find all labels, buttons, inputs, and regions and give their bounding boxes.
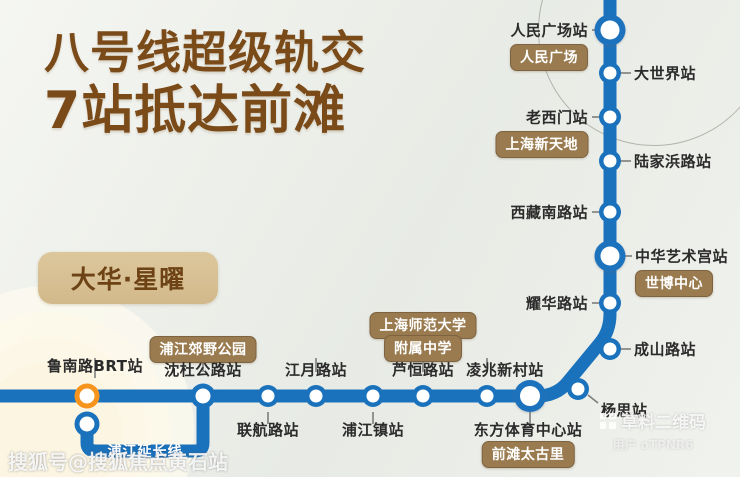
station-dot-laoximen-core bbox=[604, 111, 617, 124]
station-label-lujiabang-lu: 陆家浜路站 bbox=[634, 151, 712, 172]
station-label-dongfang-tiyu-zhongxin: 东方体育中心站 bbox=[474, 419, 583, 440]
station-dot-yangsi-core bbox=[572, 383, 585, 396]
station-dot-luheng-lu-core bbox=[417, 390, 430, 403]
watermark-user: 用户 oTPNR6 bbox=[600, 436, 706, 453]
station-dot-lunan-lu-brt-core bbox=[80, 389, 95, 404]
station-dot-pujiang-zhen-core bbox=[367, 390, 380, 403]
station-label-chengshan-lu: 成山路站 bbox=[634, 339, 696, 360]
station-label-pujiang-zhen: 浦江镇站 bbox=[342, 419, 404, 440]
watermark-bottom-right: 草料二维码 用户 oTPNR6 bbox=[600, 408, 706, 453]
station-dot-dongfang-tiyu-zhongxin-core bbox=[520, 386, 540, 406]
station-dot-yaohua-lu-core bbox=[604, 297, 617, 310]
station-dot-zhonghua-yishugong-core bbox=[601, 247, 620, 266]
station-label-laoximen: 老西门站 bbox=[526, 107, 588, 128]
station-dot-lianhang-lu-core bbox=[262, 390, 275, 403]
station-label-renmin-guangchang: 人民广场站 bbox=[510, 20, 588, 41]
station-label-jiangyue-lu: 江月路站 bbox=[285, 359, 347, 380]
station-dot-lingzhao-xincun-core bbox=[481, 390, 494, 403]
station-dot-chengshan-lu-core bbox=[604, 343, 617, 356]
watermark-bottom-left: 搜狐号@搜狐焦点黄石站 bbox=[8, 446, 228, 475]
station-label-luheng-lu: 芦恒路站 bbox=[392, 359, 454, 380]
station-dot-branch-terminal-core bbox=[80, 417, 95, 432]
station-label-lunan-lu-brt: 鲁南路BRT站 bbox=[47, 355, 143, 376]
station-label-lianhang-lu: 联航路站 bbox=[237, 419, 299, 440]
station-label-dashijie: 大世界站 bbox=[634, 63, 696, 84]
station-dot-renmin-guangchang-core bbox=[601, 21, 620, 40]
station-label-zhonghua-yishugong: 中华艺术宫站 bbox=[635, 246, 728, 267]
station-label-xizang-nanlu: 西藏南路站 bbox=[510, 202, 588, 223]
poi-chip-shanghai-xintiandi: 上海新天地 bbox=[496, 131, 589, 158]
station-label-shendu-gonglu: 沈杜公路站 bbox=[164, 359, 242, 380]
qr-code-icon bbox=[600, 413, 616, 429]
station-dot-lujiabang-lu-core bbox=[604, 155, 617, 168]
poi-chip-renmin-guangchang: 人民广场 bbox=[510, 44, 588, 71]
station-dot-dashijie-core bbox=[604, 67, 617, 80]
poi-chip-qiantan-taikooli: 前滩太古里 bbox=[482, 441, 575, 468]
poi-chip-shishida-line2: 附属中学 bbox=[384, 335, 462, 362]
poster-root: 八号线超级轨交 7站抵达前滩 大华·星曜 bbox=[0, 0, 740, 477]
station-dot-xizang-nanlu-core bbox=[604, 206, 617, 219]
station-label-lingzhao-xincun: 凌兆新村站 bbox=[466, 359, 544, 380]
station-dot-jiangyue-lu-core bbox=[310, 390, 323, 403]
watermark-title: 草料二维码 bbox=[621, 413, 706, 433]
station-label-yaohua-lu: 耀华路站 bbox=[526, 293, 588, 314]
station-dot-shendu-gonglu-core bbox=[196, 389, 211, 404]
poi-chip-shibo-zhongxin: 世博中心 bbox=[635, 270, 713, 297]
